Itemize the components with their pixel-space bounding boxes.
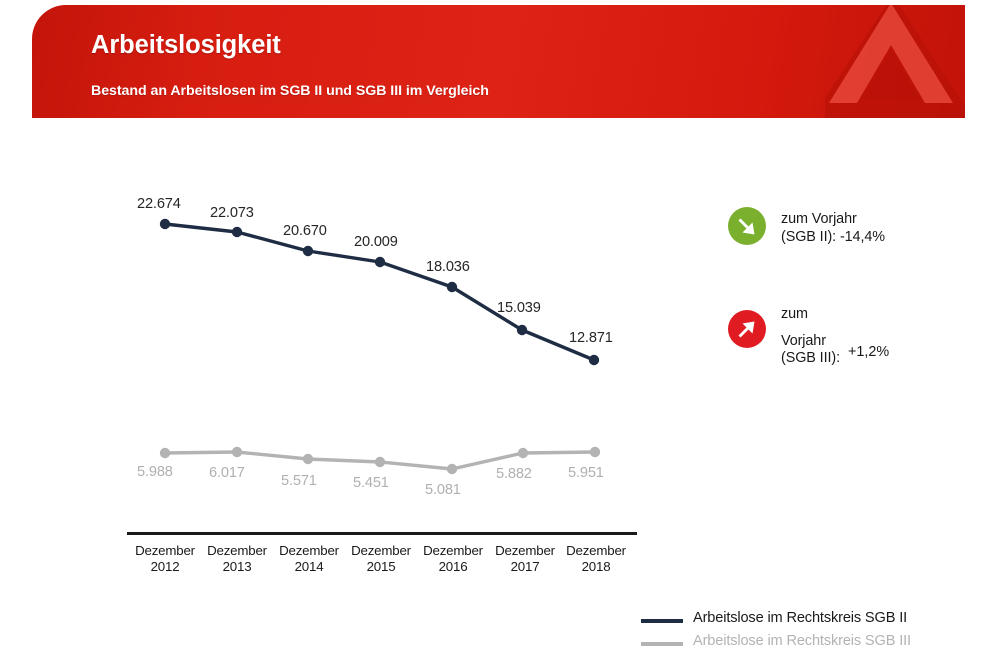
data-label-sgb2: 18.036: [426, 259, 470, 275]
data-label-sgb2: 20.670: [283, 223, 327, 239]
x-axis-tick-month: Dezember: [351, 543, 411, 558]
data-label-sgb2: 12.871: [569, 330, 613, 346]
page-title: Arbeitslosigkeit: [91, 31, 281, 60]
annotation-sgb3-line2: Vorjahr: [781, 333, 826, 351]
legend-label-sgb3: Arbeitslose im Rechtskreis SGB III: [693, 633, 911, 649]
annotation-sgb3-value: +1,2%: [848, 344, 889, 360]
data-label-sgb2: 22.674: [137, 196, 181, 212]
x-axis-tick-month: Dezember: [495, 543, 555, 558]
data-label-sgb3: 6.017: [209, 465, 245, 481]
data-label-sgb2: 15.039: [497, 300, 541, 316]
x-axis-tick-year: 2012: [128, 559, 202, 575]
series-line-sgb2: [160, 219, 599, 365]
x-axis-tick: Dezember 2015: [344, 543, 418, 575]
x-axis-tick: Dezember 2016: [416, 543, 490, 575]
data-label-sgb3: 5.571: [281, 473, 317, 489]
x-axis-tick-month: Dezember: [566, 543, 626, 558]
x-axis-tick-year: 2014: [272, 559, 346, 575]
x-axis-tick-month: Dezember: [279, 543, 339, 558]
data-label-sgb3: 5.951: [568, 465, 604, 481]
data-label-sgb3: 5.988: [137, 464, 173, 480]
data-label-sgb2: 20.009: [354, 234, 398, 250]
x-axis-tick: Dezember 2018: [559, 543, 633, 575]
data-label-sgb3: 5.882: [496, 466, 532, 482]
legend-swatch-sgb2: [641, 619, 683, 623]
x-axis-tick-year: 2015: [344, 559, 418, 575]
x-axis-tick-month: Dezember: [423, 543, 483, 558]
data-label-sgb3: 5.081: [425, 482, 461, 498]
x-axis-line: [127, 532, 637, 535]
x-axis-tick-month: Dezember: [135, 543, 195, 558]
x-axis-tick-year: 2018: [559, 559, 633, 575]
arrow-up-right-icon: [728, 310, 766, 348]
x-axis-tick: Dezember 2013: [200, 543, 274, 575]
annotation-sgb3-line1: zum: [781, 306, 808, 324]
x-axis-tick: Dezember 2014: [272, 543, 346, 575]
header-banner: Arbeitslosigkeit Bestand an Arbeitslosen…: [32, 5, 965, 118]
series-line-sgb3: [160, 447, 600, 474]
annotation-sgb3-line3: (SGB III):: [781, 350, 840, 368]
legend-swatch-sgb3: [641, 642, 683, 646]
ba-a-logo-icon: [825, 5, 965, 118]
x-axis-tick-month: Dezember: [207, 543, 267, 558]
x-axis-tick-year: 2017: [488, 559, 562, 575]
x-axis-tick: Dezember 2012: [128, 543, 202, 575]
x-axis-tick-year: 2016: [416, 559, 490, 575]
page-subtitle: Bestand an Arbeitslosen im SGB II und SG…: [91, 83, 489, 99]
arrow-down-right-icon: [728, 207, 766, 245]
legend-label-sgb2: Arbeitslose im Rechtskreis SGB II: [693, 610, 907, 626]
data-label-sgb2: 22.073: [210, 205, 254, 221]
x-axis-tick-year: 2013: [200, 559, 274, 575]
data-label-sgb3: 5.451: [353, 475, 389, 491]
x-axis-tick: Dezember 2017: [488, 543, 562, 575]
annotation-sgb2-line2: (SGB II): -14,4%: [781, 229, 885, 247]
annotation-sgb2-line1: zum Vorjahr: [781, 211, 857, 229]
